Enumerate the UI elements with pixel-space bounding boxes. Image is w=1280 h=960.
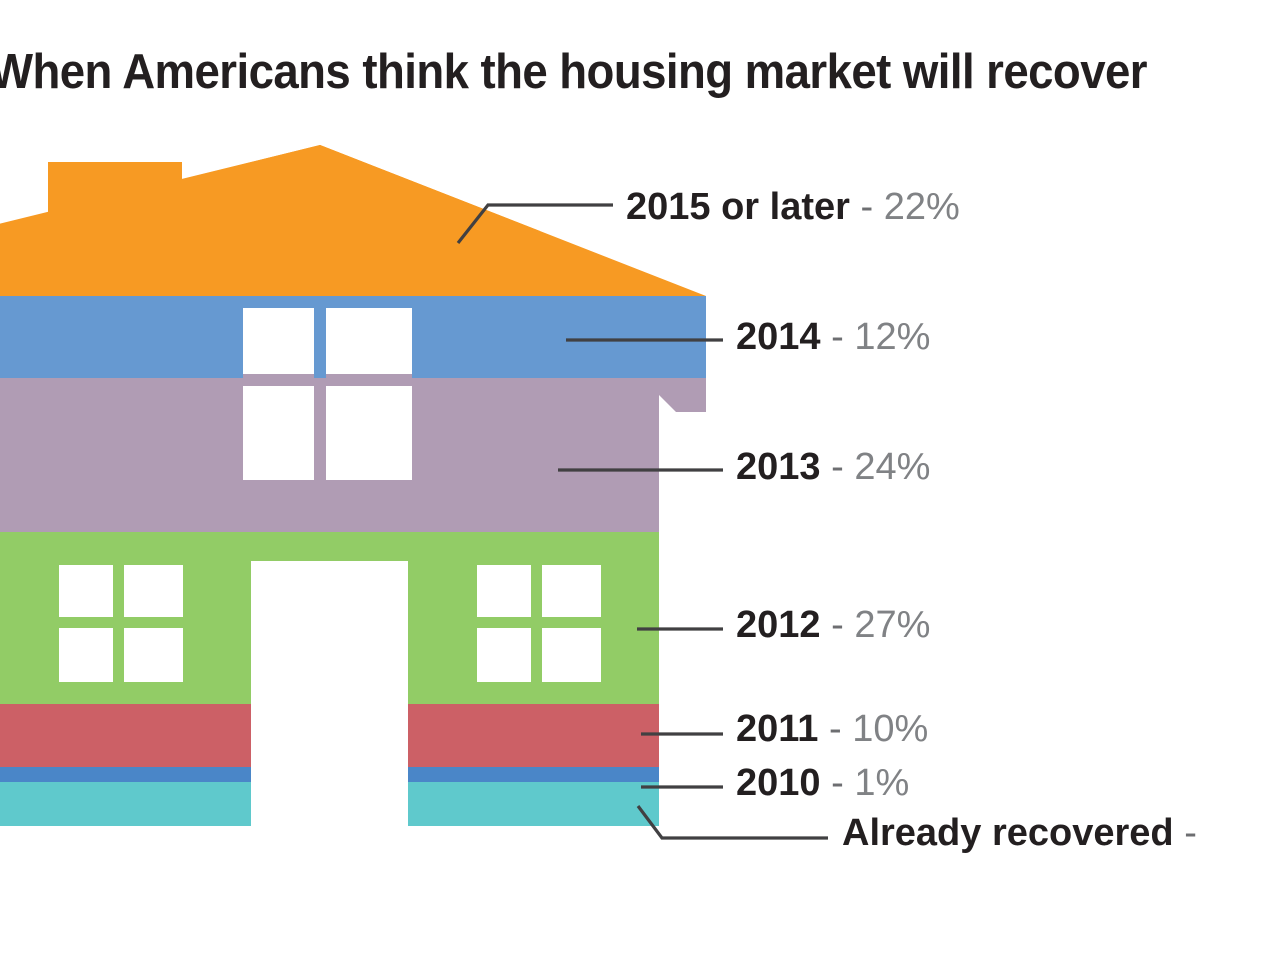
callout-already-label: Already recovered xyxy=(842,812,1174,854)
upper-window xyxy=(243,308,412,480)
callout-2012: 2012 - 27% xyxy=(736,606,930,644)
footer: ulia® RealtyTrac® Data from a study cond… xyxy=(0,858,1280,960)
callout-2011-dash: - xyxy=(829,708,842,750)
callout-2014-dash: - xyxy=(831,316,844,358)
callout-2013: 2013 - 24% xyxy=(736,448,930,486)
callout-2014-pct: 12% xyxy=(854,316,930,358)
callout-2013-pct: 24% xyxy=(854,446,930,488)
callout-2010-pct: 1% xyxy=(854,762,909,804)
callout-2011: 2011 - 10% xyxy=(736,710,928,748)
callout-2012-dash: - xyxy=(831,604,844,646)
callout-already-recovered: Already recovered - xyxy=(842,814,1197,852)
callout-already-dash: - xyxy=(1184,812,1197,854)
callout-2010: 2010 - 1% xyxy=(736,764,909,802)
band-2015-orange xyxy=(0,145,706,296)
infographic-canvas: When Americans think the housing market … xyxy=(0,0,1280,960)
callout-2015-year: 2015 or later xyxy=(626,186,850,228)
callout-2014: 2014 - 12% xyxy=(736,318,930,356)
callout-2012-pct: 27% xyxy=(854,604,930,646)
left-window xyxy=(59,565,183,682)
callout-2012-year: 2012 xyxy=(736,604,821,646)
callout-2011-year: 2011 xyxy=(736,708,818,750)
door xyxy=(251,561,408,826)
right-window xyxy=(477,565,601,682)
callout-2010-year: 2010 xyxy=(736,762,821,804)
callout-2011-pct: 10% xyxy=(852,708,928,750)
callout-2015: 2015 or later - 22% xyxy=(626,188,960,226)
callout-2015-pct: 22% xyxy=(884,186,960,228)
callout-2010-dash: - xyxy=(831,762,844,804)
callout-2013-dash: - xyxy=(831,446,844,488)
leader-already xyxy=(638,806,828,838)
callout-2015-dash: - xyxy=(860,186,873,228)
callout-2014-year: 2014 xyxy=(736,316,821,358)
callout-2013-year: 2013 xyxy=(736,446,821,488)
